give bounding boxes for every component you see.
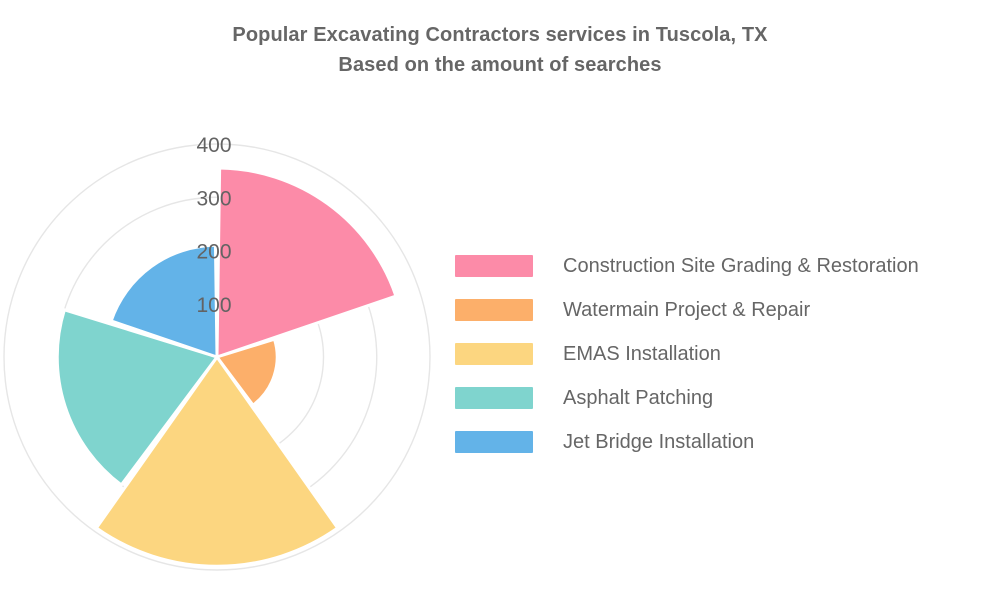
legend-swatch-icon <box>455 431 533 453</box>
legend-item-label: Watermain Project & Repair <box>563 299 810 322</box>
radial-tick-label: 100 <box>196 294 231 317</box>
chart-title-line-2: Based on the amount of searches <box>0 50 1000 80</box>
legend-item-label: Jet Bridge Installation <box>563 431 754 454</box>
chart-title: Popular Excavating Contractors services … <box>0 20 1000 80</box>
legend-item[interactable]: Jet Bridge Installation <box>455 420 1000 464</box>
legend-item-label: Asphalt Patching <box>563 387 713 410</box>
polar-chart-svg: 100200300400 <box>0 92 440 600</box>
radial-tick-label: 300 <box>196 187 231 210</box>
radial-tick-label: 400 <box>196 134 231 157</box>
legend-item[interactable]: Watermain Project & Repair <box>455 288 1000 332</box>
rose-sectors <box>57 168 396 566</box>
chart-title-line-1: Popular Excavating Contractors services … <box>0 20 1000 50</box>
legend-item-label: EMAS Installation <box>563 343 721 366</box>
legend-swatch-icon <box>455 343 533 365</box>
radial-tick-label: 200 <box>196 241 231 264</box>
chart-legend: Construction Site Grading & Restoration … <box>455 244 1000 464</box>
legend-item[interactable]: Construction Site Grading & Restoration <box>455 244 1000 288</box>
legend-item[interactable]: Asphalt Patching <box>455 376 1000 420</box>
legend-item[interactable]: EMAS Installation <box>455 332 1000 376</box>
chart-page: Popular Excavating Contractors services … <box>0 0 1000 600</box>
legend-swatch-icon <box>455 387 533 409</box>
polar-chart: 100200300400 <box>0 92 440 600</box>
legend-swatch-icon <box>455 299 533 321</box>
legend-swatch-icon <box>455 255 533 277</box>
rose-sector[interactable] <box>217 168 396 357</box>
legend-item-label: Construction Site Grading & Restoration <box>563 255 919 278</box>
